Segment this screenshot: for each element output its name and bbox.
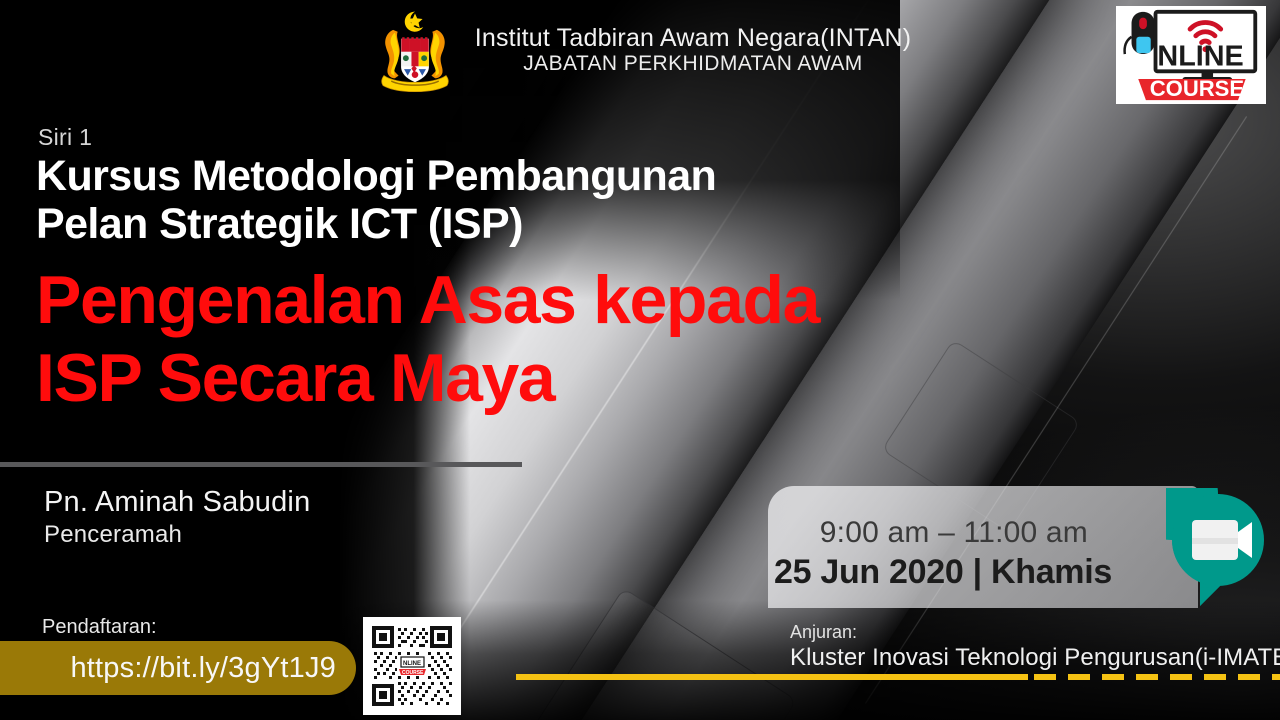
online-course-logo-icon: NLINE COURSE (1118, 8, 1264, 102)
registration-url[interactable]: https://bit.ly/3gYt1J9 (70, 652, 336, 685)
online-course-badge: NLINE COURSE (1116, 6, 1266, 104)
qr-embedded-logo-icon: NLINE COURSE (397, 656, 428, 676)
event-date: 25 Jun 2020 | Khamis (774, 553, 1112, 592)
badge-course-text: COURSE (1150, 76, 1244, 101)
course-headline-line-2: ISP Secara Maya (36, 340, 1016, 418)
gold-rule-solid (516, 674, 1028, 680)
header-department-name: JABATAN PERKHIDMATAN AWAM (475, 52, 912, 76)
speaker-name: Pn. Aminah Sabudin (44, 486, 310, 519)
course-headline-line-1: Pengenalan Asas kepada (36, 262, 1016, 340)
event-poster: Institut Tadbiran Awam Negara(INTAN) JAB… (0, 0, 1280, 720)
header-institute-name: Institut Tadbiran Awam Negara(INTAN) (475, 24, 912, 52)
svg-text:COURSE: COURSE (402, 670, 424, 676)
course-title: Kursus Metodologi Pembangunan Pelan Stra… (36, 152, 826, 248)
computer-mouse-icon (1125, 12, 1155, 54)
svg-text:NLINE: NLINE (403, 661, 421, 667)
qr-code[interactable]: NLINE COURSE (363, 617, 461, 715)
gold-rule-dashed (1034, 674, 1280, 680)
series-label: Siri 1 (38, 124, 92, 151)
google-meet-video-icon (1166, 488, 1270, 610)
event-time: 9:00 am – 11:00 am (820, 516, 1088, 550)
speaker-role: Penceramah (44, 521, 182, 549)
registration-link-pill[interactable]: https://bit.ly/3gYt1J9 (0, 641, 356, 695)
qr-code-icon[interactable]: NLINE COURSE (368, 622, 456, 710)
course-title-line-1: Kursus Metodologi Pembangunan (36, 152, 826, 200)
badge-online-text: NLINE (1157, 41, 1243, 73)
poster-header: Institut Tadbiran Awam Negara(INTAN) JAB… (0, 8, 1280, 92)
registration-label: Pendaftaran: (42, 616, 157, 639)
course-title-line-2: Pelan Strategik ICT (ISP) (36, 200, 826, 248)
organizer-name: Kluster Inovasi Teknologi Pengurusan(i-I… (790, 644, 1280, 672)
course-headline: Pengenalan Asas kepada ISP Secara Maya (36, 262, 1016, 417)
organizer-label: Anjuran: (790, 622, 857, 643)
section-divider (0, 462, 522, 467)
malaysia-coat-of-arms-icon (369, 8, 461, 92)
